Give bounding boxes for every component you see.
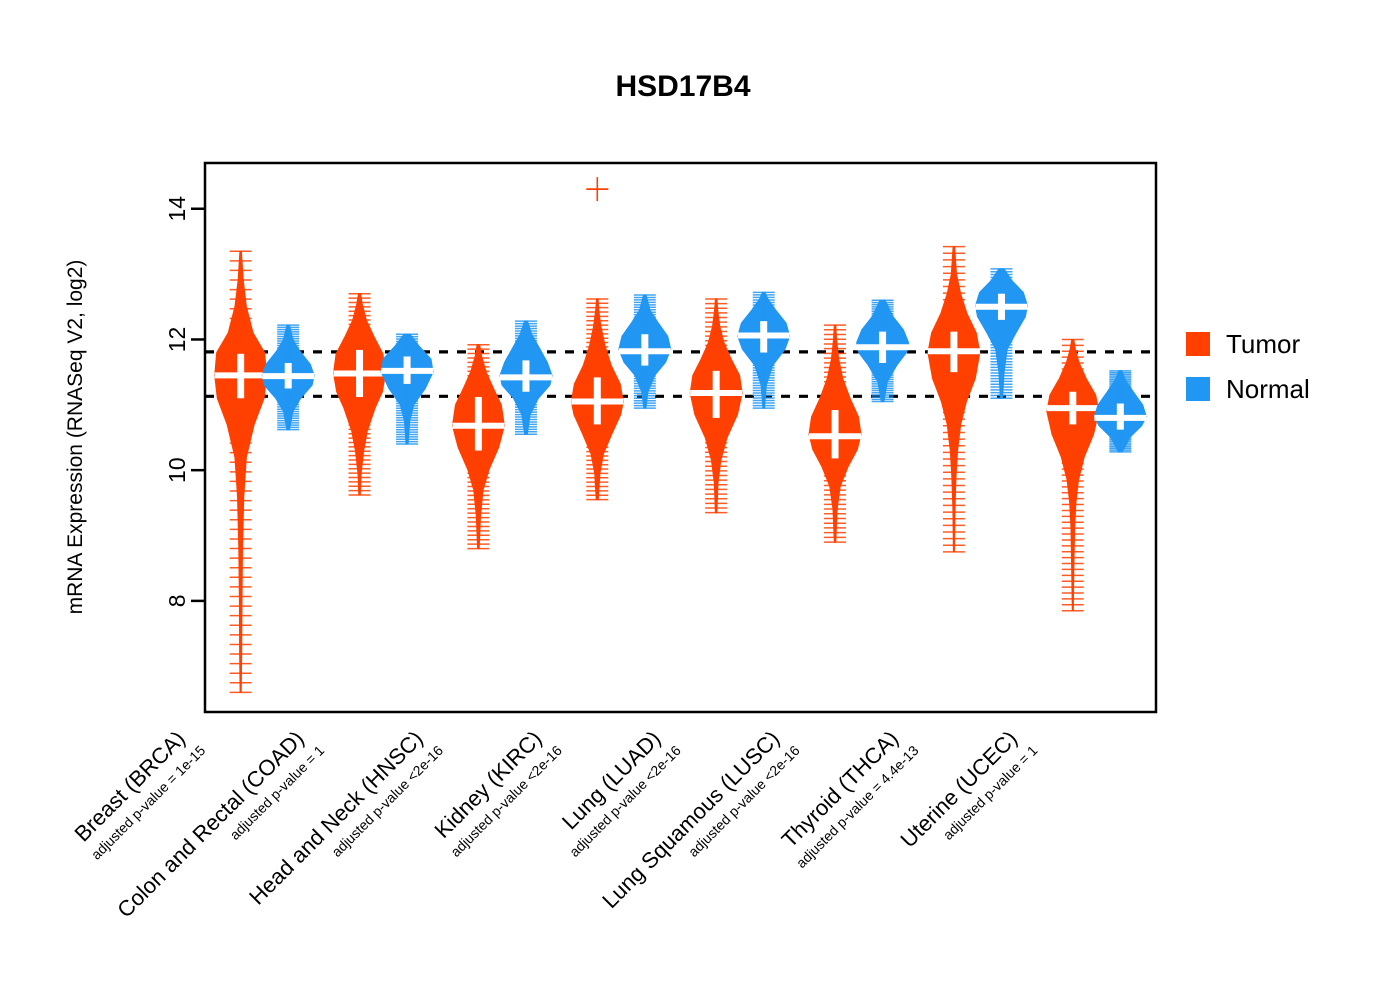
legend-label: Normal [1226, 374, 1310, 404]
violin-normal [975, 269, 1027, 398]
violin-body-right [1120, 371, 1146, 452]
y-axis-ticks: 8101214 [164, 196, 205, 608]
chart-canvas: HSD17B4 mRNA Expression (RNASeq V2, log2… [0, 0, 1400, 1000]
violin-normal [262, 325, 314, 430]
y-tick-label: 8 [164, 594, 190, 607]
violin-body-right [883, 300, 909, 401]
violin-tumor [452, 345, 504, 549]
violin-group [1047, 339, 1147, 610]
legend-swatch [1186, 332, 1210, 356]
legend-label: Tumor [1226, 329, 1300, 359]
y-tick-label: 10 [164, 457, 190, 483]
violin-group [334, 294, 434, 495]
violin-normal [857, 300, 909, 401]
violin-normal [500, 321, 552, 434]
x-axis-labels: Breast (BRCA)adjusted p-value = 1e-15Col… [67, 721, 1040, 936]
y-tick-label: 12 [164, 327, 190, 353]
violin-body-left [857, 300, 883, 401]
x-axis-group-label: Thyroid (THCA)adjusted p-value = 4.4e-13 [772, 721, 921, 870]
violin-tumor [928, 247, 980, 552]
violin-body-left [1094, 371, 1120, 452]
violin-group [809, 300, 909, 542]
violin-tumor [690, 299, 742, 513]
violin-group [690, 292, 790, 512]
plot-frame [205, 163, 1156, 712]
violin-tumor [334, 294, 386, 495]
page-title: HSD17B4 [615, 70, 750, 103]
legend: TumorNormal [1186, 329, 1310, 404]
violin-body-right [241, 251, 267, 692]
violin-normal [1094, 371, 1146, 452]
x-axis-group-label: Kidney (KIRC)adjusted p-value <2e-16 [427, 721, 565, 859]
x-axis-group-label: Uterine (UCEC)adjusted p-value = 1 [896, 721, 1041, 866]
violin-group [215, 251, 315, 692]
violin-tumor [215, 251, 267, 692]
legend-swatch [1186, 377, 1210, 401]
violin-normal [738, 292, 790, 408]
violin-normal [619, 295, 671, 408]
violin-groups [215, 177, 1147, 692]
y-axis-label: mRNA Expression (RNASeq V2, log2) [64, 260, 87, 615]
y-tick-label: 14 [164, 196, 190, 222]
violin-tumor [571, 177, 623, 499]
violin-group [452, 321, 552, 548]
violin-plot-page: HSD17B4 mRNA Expression (RNASeq V2, log2… [0, 0, 1400, 1000]
violin-body-left [215, 251, 241, 692]
violin-group [928, 247, 1028, 552]
violin-tumor [1047, 339, 1099, 610]
violin-group [571, 177, 671, 499]
violin-tumor [809, 325, 861, 542]
